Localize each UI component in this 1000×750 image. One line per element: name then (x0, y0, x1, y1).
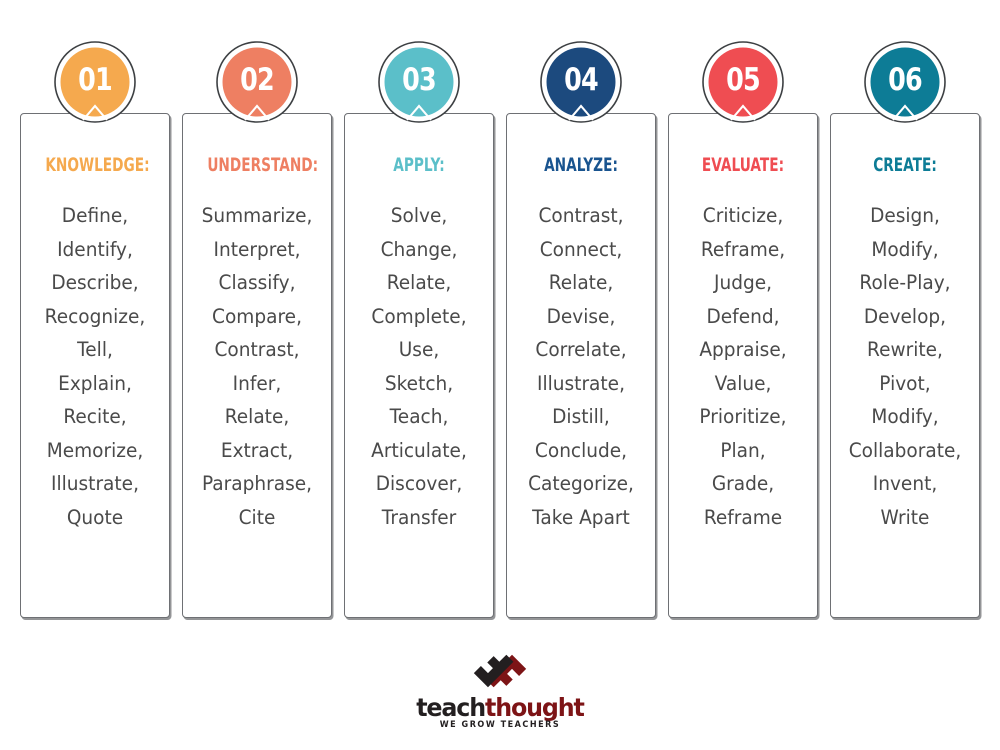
verb-item: Memorize, (29, 434, 160, 468)
card-heading: KNOWLEDGE: (45, 156, 144, 175)
step-number-badge: 04 (539, 40, 623, 124)
verb-item: Reframe (677, 501, 808, 535)
verb-item: Connect, (515, 233, 646, 267)
taxonomy-columns: KNOWLEDGE:Define,Identify,Describe,Recog… (0, 40, 1000, 625)
verb-item: Define, (29, 199, 160, 233)
verb-item: Illustrate, (515, 367, 646, 401)
verb-item: Prioritize, (677, 400, 808, 434)
verb-item: Modify, (839, 400, 970, 434)
verb-item: Categorize, (515, 467, 646, 501)
verb-item: Relate, (191, 400, 322, 434)
verb-list: Define,Identify,Describe,Recognize,Tell,… (26, 199, 164, 534)
taxonomy-card: ANALYZE:Contrast,Connect,Relate,Devise,C… (506, 113, 656, 618)
taxonomy-column: APPLY:Solve,Change,Relate,Complete,Use,S… (344, 40, 494, 620)
badge-circle-icon (215, 40, 299, 124)
logo-tagline: WE GROW TEACHERS (405, 721, 595, 730)
card-heading: CREATE: (855, 156, 954, 175)
verb-item: Describe, (29, 266, 160, 300)
verb-item: Grade, (677, 467, 808, 501)
step-number-badge: 05 (701, 40, 785, 124)
verb-list: Solve,Change,Relate,Complete,Use,Sketch,… (350, 199, 488, 534)
verb-item: Solve, (353, 199, 484, 233)
taxonomy-card: UNDERSTAND:Summarize,Interpret,Classify,… (182, 113, 332, 618)
verb-item: Classify, (191, 266, 322, 300)
verb-item: Summarize, (191, 199, 322, 233)
verb-item: Judge, (677, 266, 808, 300)
verb-item: Extract, (191, 434, 322, 468)
verb-item: Conclude, (515, 434, 646, 468)
verb-item: Explain, (29, 367, 160, 401)
card-heading: EVALUATE: (693, 156, 792, 175)
verb-item: Recognize, (29, 300, 160, 334)
verb-item: Reframe, (677, 233, 808, 267)
verb-item: Contrast, (515, 199, 646, 233)
taxonomy-column: CREATE:Design,Modify,Role-Play,Develop,R… (830, 40, 980, 620)
verb-item: Pivot, (839, 367, 970, 401)
taxonomy-column: EVALUATE:Criticize,Reframe,Judge,Defend,… (668, 40, 818, 620)
verb-item: Complete, (353, 300, 484, 334)
verb-item: Use, (353, 333, 484, 367)
verb-item: Take Apart (515, 501, 646, 535)
step-number-badge: 01 (53, 40, 137, 124)
verb-item: Interpret, (191, 233, 322, 267)
verb-item: Compare, (191, 300, 322, 334)
verb-item: Sketch, (353, 367, 484, 401)
verb-item: Change, (353, 233, 484, 267)
taxonomy-column: KNOWLEDGE:Define,Identify,Describe,Recog… (20, 40, 170, 620)
verb-list: Summarize,Interpret,Classify,Compare,Con… (188, 199, 326, 534)
verb-list: Contrast,Connect,Relate,Devise,Correlate… (512, 199, 650, 534)
verb-item: Teach, (353, 400, 484, 434)
verb-item: Recite, (29, 400, 160, 434)
verb-item: Cite (191, 501, 322, 535)
verb-item: Value, (677, 367, 808, 401)
verb-item: Quote (29, 501, 160, 535)
verb-item: Devise, (515, 300, 646, 334)
verb-item: Paraphrase, (191, 467, 322, 501)
verb-item: Design, (839, 199, 970, 233)
logo-word-first: teach (416, 693, 485, 722)
verb-item: Articulate, (353, 434, 484, 468)
verb-item: Invent, (839, 467, 970, 501)
verb-item: Modify, (839, 233, 970, 267)
badge-circle-icon (701, 40, 785, 124)
verb-item: Transfer (353, 501, 484, 535)
badge-circle-icon (53, 40, 137, 124)
teachthought-logo-mark (469, 648, 531, 694)
verb-item: Appraise, (677, 333, 808, 367)
verb-item: Plan, (677, 434, 808, 468)
verb-item: Collaborate, (839, 434, 970, 468)
verb-item: Write (839, 501, 970, 535)
verb-item: Illustrate, (29, 467, 160, 501)
verb-list: Criticize,Reframe,Judge,Defend,Appraise,… (674, 199, 812, 534)
verb-item: Develop, (839, 300, 970, 334)
taxonomy-card: APPLY:Solve,Change,Relate,Complete,Use,S… (344, 113, 494, 618)
verb-item: Discover, (353, 467, 484, 501)
badge-circle-icon (377, 40, 461, 124)
verb-list: Design,Modify,Role-Play,Develop,Rewrite,… (836, 199, 974, 534)
bloom-taxonomy-infographic: KNOWLEDGE:Define,Identify,Describe,Recog… (0, 0, 1000, 750)
card-heading: UNDERSTAND: (207, 156, 306, 175)
taxonomy-card: KNOWLEDGE:Define,Identify,Describe,Recog… (20, 113, 170, 618)
taxonomy-column: UNDERSTAND:Summarize,Interpret,Classify,… (182, 40, 332, 620)
card-heading: APPLY: (369, 156, 468, 175)
verb-item: Identify, (29, 233, 160, 267)
badge-circle-icon (863, 40, 947, 124)
verb-item: Defend, (677, 300, 808, 334)
verb-item: Correlate, (515, 333, 646, 367)
verb-item: Distill, (515, 400, 646, 434)
teachthought-logo: teachthought WE GROW TEACHERS (400, 648, 600, 730)
taxonomy-card: CREATE:Design,Modify,Role-Play,Develop,R… (830, 113, 980, 618)
verb-item: Rewrite, (839, 333, 970, 367)
card-heading: ANALYZE: (531, 156, 630, 175)
taxonomy-card: EVALUATE:Criticize,Reframe,Judge,Defend,… (668, 113, 818, 618)
logo-wordmark: teachthought (405, 695, 595, 720)
step-number-badge: 02 (215, 40, 299, 124)
verb-item: Tell, (29, 333, 160, 367)
verb-item: Role-Play, (839, 266, 970, 300)
taxonomy-column: ANALYZE:Contrast,Connect,Relate,Devise,C… (506, 40, 656, 620)
verb-item: Infer, (191, 367, 322, 401)
logo-word-second: thought (485, 693, 584, 722)
step-number-badge: 06 (863, 40, 947, 124)
step-number-badge: 03 (377, 40, 461, 124)
verb-item: Criticize, (677, 199, 808, 233)
verb-item: Relate, (353, 266, 484, 300)
badge-circle-icon (539, 40, 623, 124)
verb-item: Contrast, (191, 333, 322, 367)
verb-item: Relate, (515, 266, 646, 300)
